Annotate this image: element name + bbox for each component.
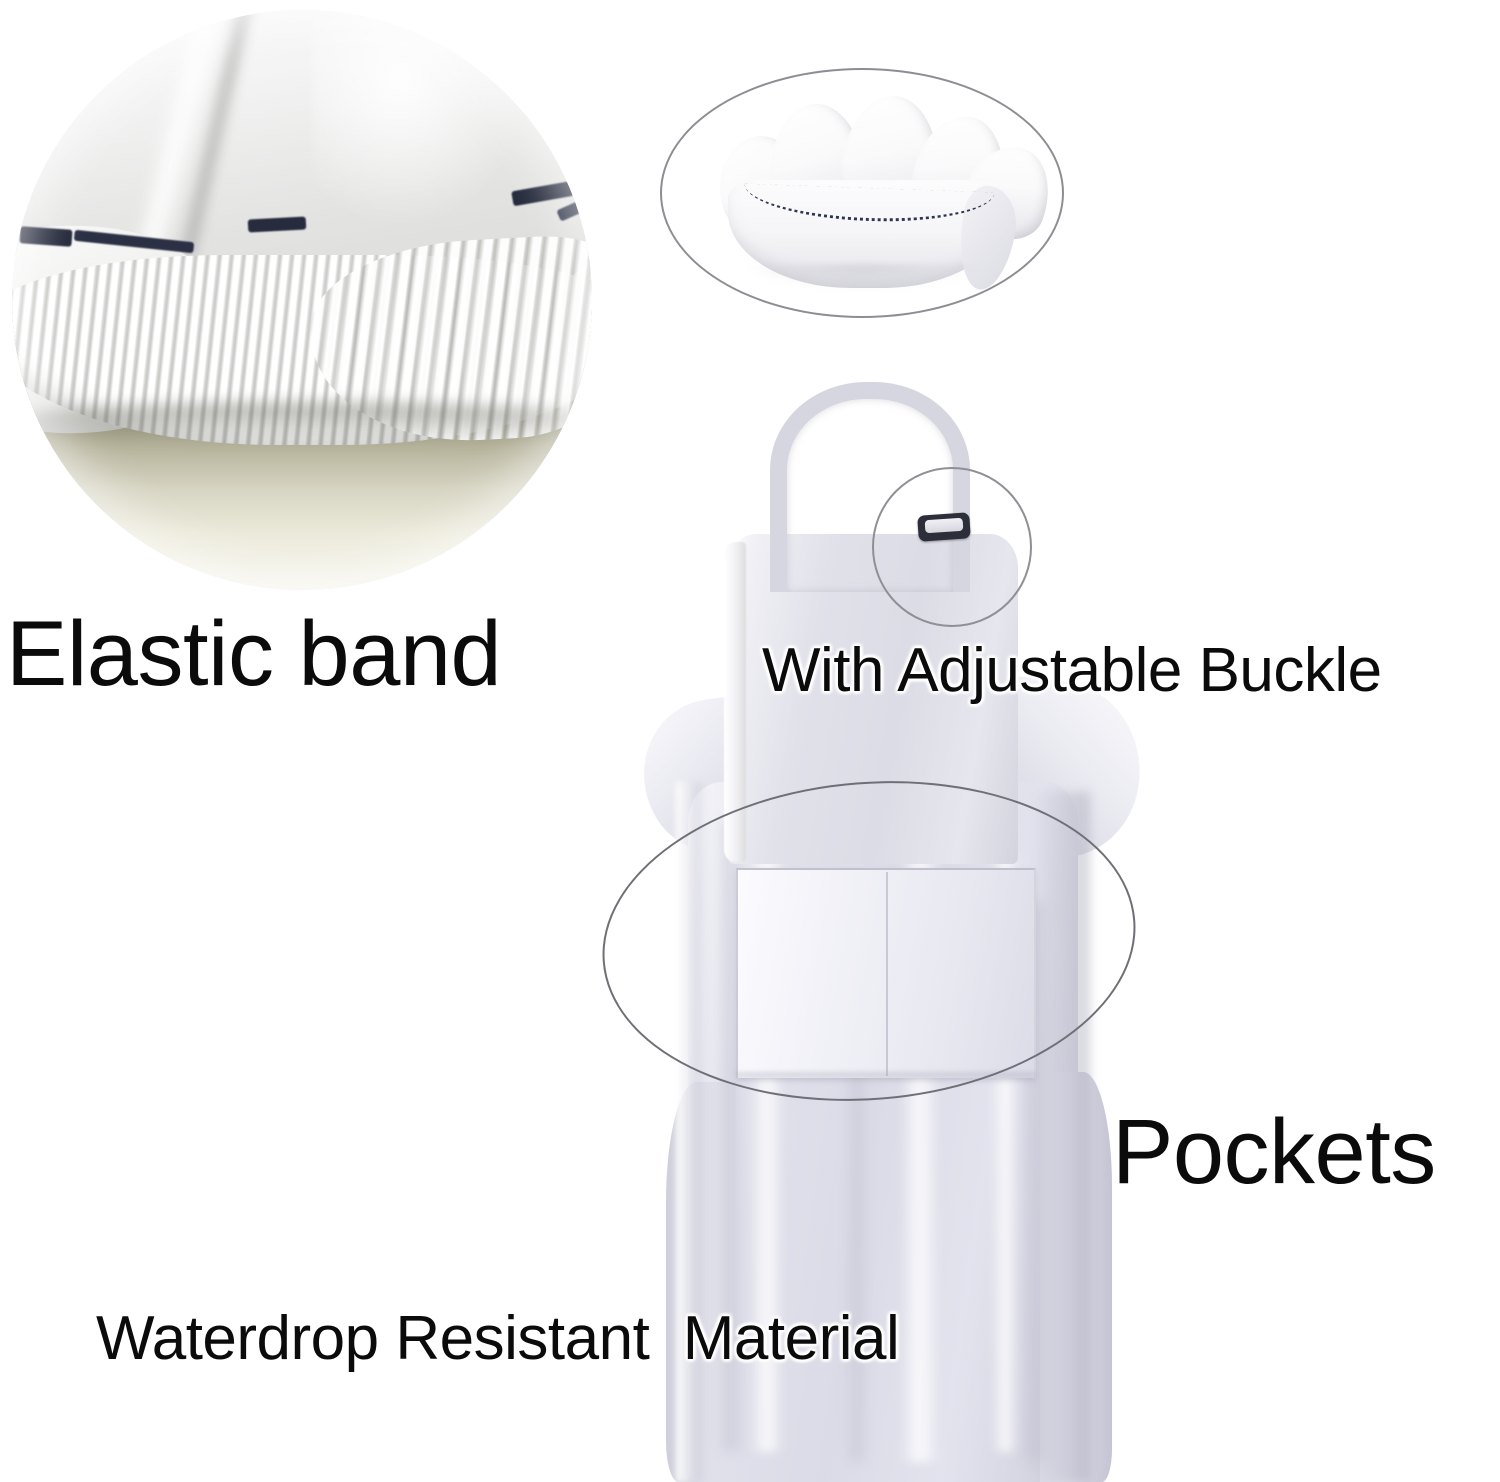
chef-hat-photo: [660, 68, 1064, 318]
photo-vignette: [12, 10, 592, 590]
caption-elastic-band: Elastic band: [6, 608, 501, 700]
caption-pockets: Pockets: [1112, 1106, 1436, 1198]
buckle-highlight-circle: [872, 467, 1032, 627]
infographic-canvas: Elastic band With Adjustable Buckle Pock…: [0, 0, 1500, 1482]
caption-adjustable-buckle: With Adjustable Buckle: [762, 640, 1382, 702]
elastic-band-closeup-photo: [12, 10, 592, 590]
caption-waterdrop-resistant-material: Waterdrop Resistant Material: [96, 1308, 899, 1370]
chef-hat-shadow: [744, 264, 984, 290]
